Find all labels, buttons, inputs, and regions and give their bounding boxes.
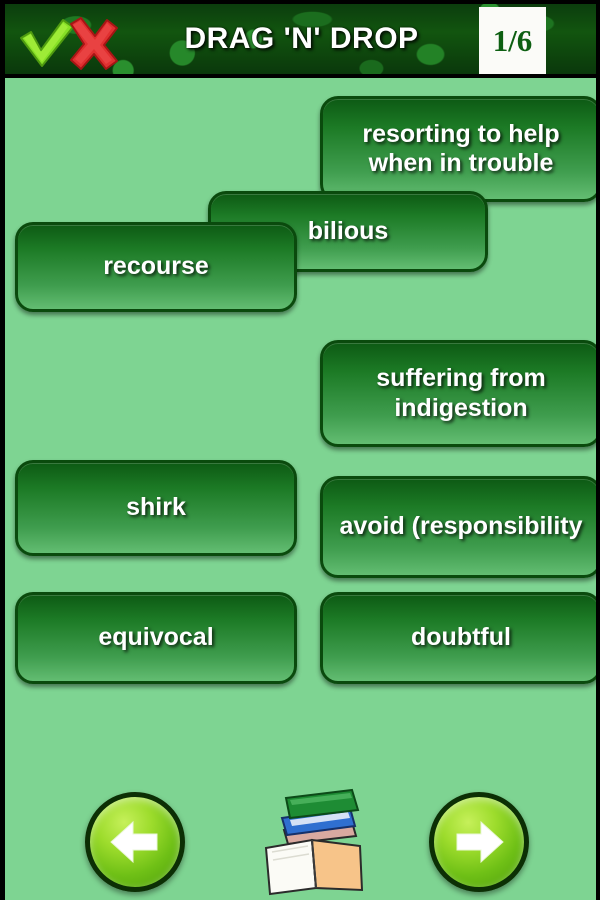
- page-title: DRAG 'N' DROP: [5, 4, 550, 74]
- card-definition-equivocal[interactable]: doubtful: [320, 592, 600, 684]
- arrow-right-icon: [447, 810, 511, 874]
- card-term-shirk[interactable]: shirk: [15, 460, 297, 556]
- drag-n-drop-screen: DRAG 'N' DROP 1/6 resorting to help when…: [0, 0, 600, 900]
- arrow-left-icon: [103, 810, 167, 874]
- card-definition-bilious[interactable]: suffering from indigestion: [320, 340, 600, 447]
- books-icon[interactable]: [260, 782, 380, 897]
- question-counter: 1/6: [479, 7, 546, 75]
- card-definition-recourse[interactable]: resorting to help when in trouble: [320, 96, 600, 202]
- next-button[interactable]: [429, 792, 529, 892]
- card-term-equivocal[interactable]: equivocal: [15, 592, 297, 684]
- card-definition-shirk[interactable]: avoid (responsibility: [320, 476, 600, 578]
- card-term-recourse[interactable]: recourse: [15, 222, 297, 312]
- books-glyph: [260, 782, 380, 897]
- app-header: DRAG 'N' DROP 1/6: [5, 0, 596, 78]
- previous-button[interactable]: [85, 792, 185, 892]
